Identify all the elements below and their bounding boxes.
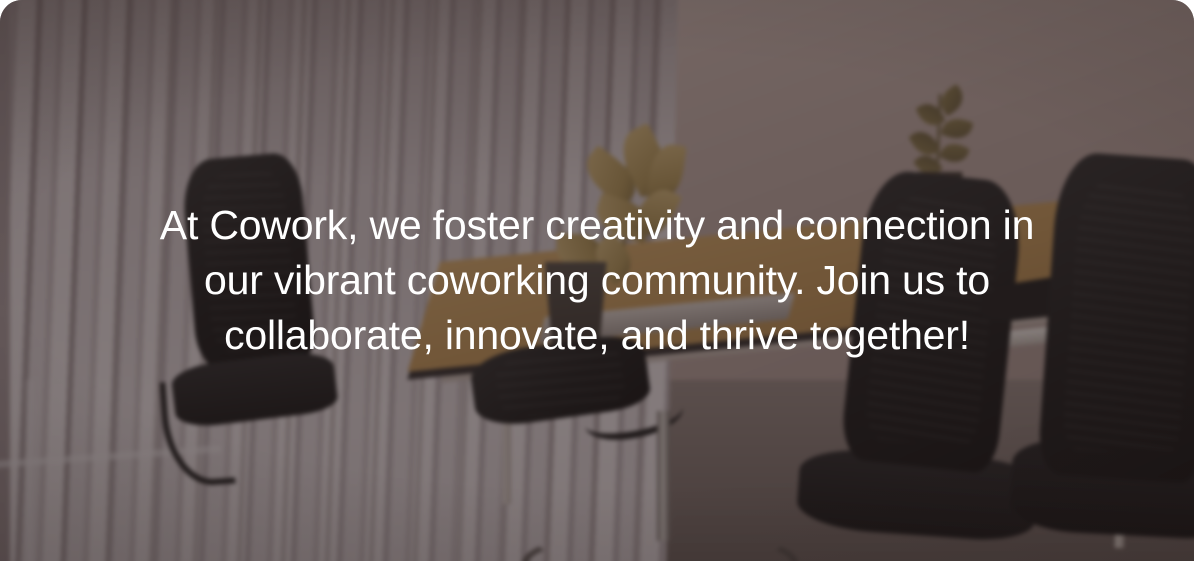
- hero-section: At Cowork, we foster creativity and conn…: [0, 0, 1194, 561]
- hero-headline: At Cowork, we foster creativity and conn…: [157, 198, 1037, 363]
- hero-content: At Cowork, we foster creativity and conn…: [0, 0, 1194, 561]
